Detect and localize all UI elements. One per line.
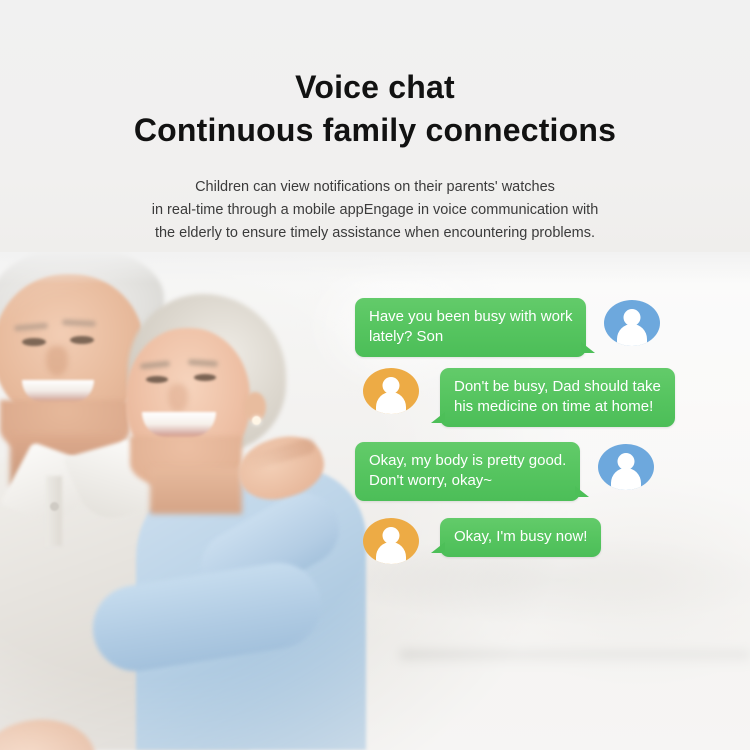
avatar-orange-child[interactable] — [363, 518, 419, 564]
avatar-blue-son[interactable] — [598, 444, 654, 490]
chat-bubble-incoming[interactable]: Okay, I'm busy now! — [440, 518, 601, 557]
subtitle-line-1: Children can view notifications on their… — [0, 176, 750, 199]
subtitle-line-2: in real-time through a mobile appEngage … — [0, 199, 750, 222]
chat-row: Have you been busy with work lately? Son — [355, 298, 660, 357]
page-subtitle: Children can view notifications on their… — [0, 176, 750, 245]
chat-row: Okay, my body is pretty good. Don't worr… — [355, 442, 654, 501]
promo-page: Voice chat Continuous family connections… — [0, 0, 750, 750]
avatar-orange-child[interactable] — [363, 368, 419, 414]
person-icon-body — [617, 324, 647, 346]
header-section: Voice chat Continuous family connections… — [0, 0, 750, 252]
person-icon-body — [376, 542, 406, 564]
chat-row: Okay, I'm busy now! — [363, 518, 601, 564]
avatar-blue-son[interactable] — [604, 300, 660, 346]
subtitle-line-3: the elderly to ensure timely assistance … — [0, 222, 750, 245]
chat-row: Don't be busy, Dad should take his medic… — [363, 368, 675, 427]
page-title-line-2: Continuous family connections — [0, 112, 750, 149]
chat-bubble-outgoing[interactable]: Okay, my body is pretty good. Don't worr… — [355, 442, 580, 501]
chat-bubble-outgoing[interactable]: Have you been busy with work lately? Son — [355, 298, 586, 357]
chat-overlay: Have you been busy with work lately? Son… — [0, 250, 750, 750]
person-icon-body — [376, 392, 406, 414]
page-title-line-1: Voice chat — [0, 69, 750, 106]
person-icon-body — [611, 468, 641, 490]
chat-bubble-incoming[interactable]: Don't be busy, Dad should take his medic… — [440, 368, 675, 427]
